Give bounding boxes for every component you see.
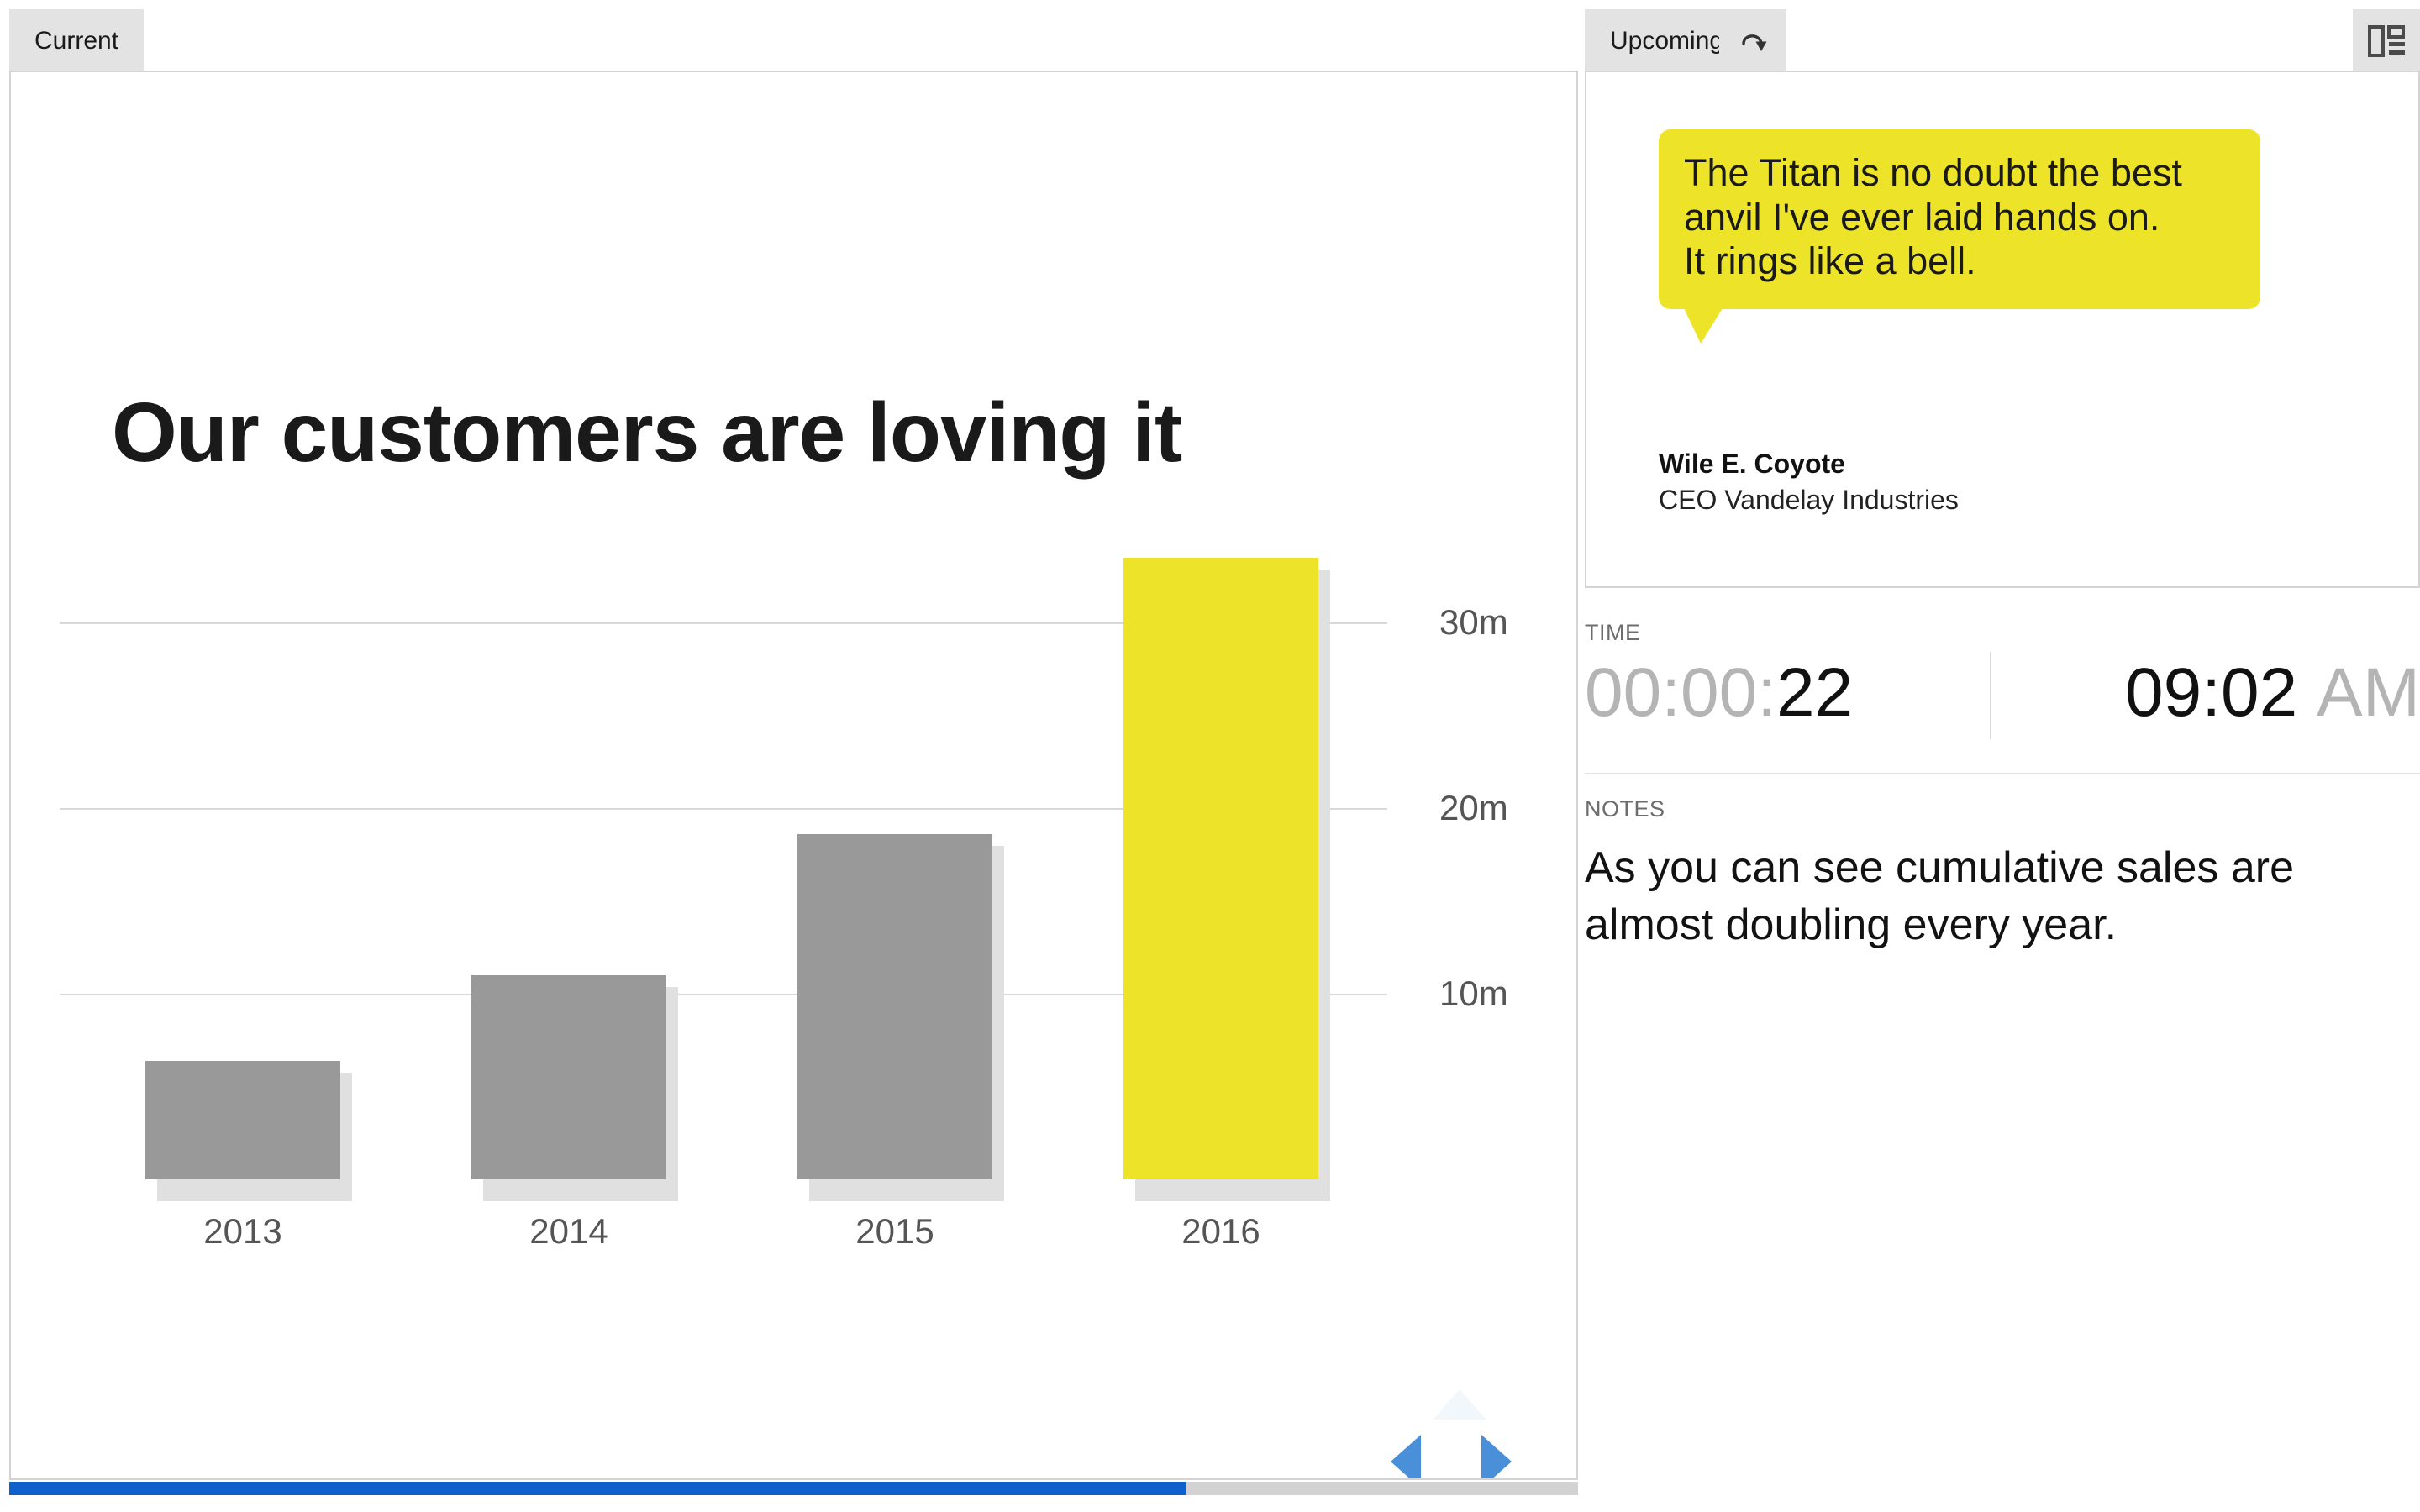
tab-current[interactable]: Current bbox=[9, 9, 144, 72]
quote-attribution: Wile E. Coyote CEO Vandelay Industries bbox=[1659, 446, 1959, 518]
quote-bubble: The Titan is no doubt the best anvil I'v… bbox=[1659, 129, 2260, 309]
current-slide-pane: Current Our customers are loving it 10m2… bbox=[0, 0, 1580, 1512]
time-section-label: TIME bbox=[1585, 620, 1641, 646]
presenter-sidebar: Upcoming bbox=[1585, 0, 2420, 1512]
slide-canvas[interactable]: Our customers are loving it 10m20m30m201… bbox=[9, 71, 1578, 1480]
author-role: CEO Vandelay Industries bbox=[1659, 482, 1959, 518]
nav-up-arrow-icon[interactable] bbox=[1433, 1389, 1486, 1420]
chart-y-tick-label: 10m bbox=[1439, 974, 1508, 1014]
speaker-notes-text[interactable]: As you can see cumulative sales are almo… bbox=[1585, 840, 2420, 953]
chart-bar bbox=[471, 975, 666, 1179]
rotate-arrow-icon bbox=[1719, 9, 1786, 72]
layout-toggle-icon bbox=[2353, 9, 2420, 72]
elapsed-timer-dim: 00:00: bbox=[1585, 654, 1776, 731]
time-row: 00:00:22 09:02 AM bbox=[1585, 647, 2420, 739]
notes-divider bbox=[1585, 773, 2420, 774]
quote-text: The Titan is no doubt the best anvil I'v… bbox=[1684, 151, 2235, 284]
notes-section-label: NOTES bbox=[1585, 796, 1665, 822]
author-name: Wile E. Coyote bbox=[1659, 446, 1959, 482]
quote-bubble-tail bbox=[1684, 308, 1723, 344]
wall-clock-meridiem: AM bbox=[2317, 654, 2420, 731]
wall-clock: 09:02 AM bbox=[2125, 647, 2420, 739]
progress-fill bbox=[9, 1482, 1186, 1495]
chart-y-tick-label: 20m bbox=[1439, 788, 1508, 828]
left-tabstrip: Current bbox=[0, 0, 1580, 72]
slide-navigation-pad bbox=[1389, 1383, 1557, 1480]
presenter-view-window: Current Our customers are loving it 10m2… bbox=[0, 0, 2420, 1512]
chart-x-tick-label: 2016 bbox=[1095, 1211, 1347, 1252]
elapsed-timer[interactable]: 00:00:22 bbox=[1585, 647, 1853, 739]
bar-chart: 10m20m30m2013201420152016 bbox=[11, 72, 1578, 1480]
chart-x-tick-label: 2013 bbox=[117, 1211, 369, 1252]
chart-bar bbox=[797, 834, 992, 1179]
chart-x-tick-label: 2015 bbox=[769, 1211, 1021, 1252]
right-tabstrip: Upcoming bbox=[1585, 0, 2420, 72]
chart-bar bbox=[1123, 558, 1318, 1179]
nav-previous-arrow-icon[interactable] bbox=[1391, 1435, 1421, 1480]
nav-next-arrow-icon[interactable] bbox=[1481, 1435, 1512, 1480]
layout-toggle-button[interactable] bbox=[2353, 9, 2420, 72]
time-divider bbox=[1990, 652, 1991, 739]
presentation-progress-bar[interactable] bbox=[9, 1482, 1578, 1495]
chart-bar bbox=[145, 1061, 340, 1179]
wall-clock-value: 09:02 bbox=[2125, 654, 2297, 731]
chart-y-tick-label: 30m bbox=[1439, 602, 1508, 643]
chart-x-tick-label: 2014 bbox=[443, 1211, 695, 1252]
elapsed-timer-seconds: 22 bbox=[1776, 654, 1853, 731]
upcoming-slide-preview[interactable]: The Titan is no doubt the best anvil I'v… bbox=[1585, 71, 2420, 588]
rotate-arrow-button[interactable] bbox=[1719, 9, 1786, 72]
